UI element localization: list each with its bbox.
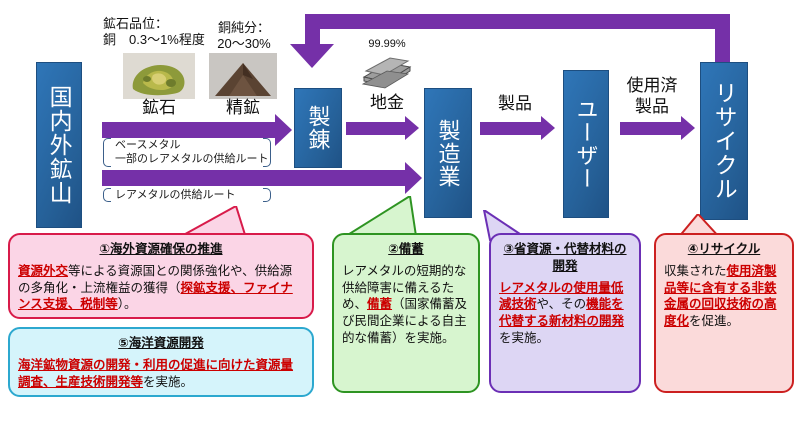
stage-box-mine[interactable]: 国内外鉱山 <box>36 62 82 228</box>
stage-label-mine: 国内外鉱山 <box>47 85 71 205</box>
recycle-loop-top-segment <box>305 14 730 29</box>
used-product-label: 使用済 製品 <box>618 75 686 118</box>
stage-label-manufacture: 製造業 <box>436 119 459 188</box>
bullion-spec-label: 99.99% <box>357 38 417 52</box>
callout-title-resource-saving: ③省資源・代替材料の開発 <box>499 241 631 275</box>
callout-body-stockpiling: レアメタルの短期的な供給障害に備えるため、備蓄（国家備蓄及び民間企業による自主的… <box>342 263 470 347</box>
flow-arrow-bullion-to-manufacture <box>346 122 406 135</box>
callout-ocean-resource-development[interactable]: ⑤海洋資源開発 海洋鉱物資源の開発・利用の促進に向けた資源量調査、生産技術開発等… <box>8 327 314 397</box>
callout-hl-1a: 資源外交 <box>18 264 68 278</box>
ore-spec-label: 鉱石品位： 銅 0.3～1%程度 <box>103 16 215 49</box>
callout-stockpiling[interactable]: ②備蓄 レアメタルの短期的な供給障害に備えるため、備蓄（国家備蓄及び民間企業によ… <box>332 233 480 393</box>
bullion-label: 地金 <box>352 92 422 113</box>
recycle-loop-right-segment <box>715 14 730 64</box>
ore-label: 鉱石 <box>123 97 195 118</box>
callout-title-ocean: ⑤海洋資源開発 <box>18 335 304 352</box>
ore-photo <box>123 53 195 99</box>
diagram-canvas: 国内外鉱山 製錬 製造業 ユーザー リサイクル <box>0 0 800 426</box>
flow-arrow-product-to-user <box>480 122 542 135</box>
callout-title-overseas: ①海外資源確保の推進 <box>18 241 304 258</box>
callout-hl-2b: 備蓄 <box>367 297 392 311</box>
callout-recycling[interactable]: ④リサイクル 収集された使用済製品等に含有する非鉄金属の回収技術の高度化を促進。 <box>654 233 794 393</box>
callout-body-overseas: 資源外交等による資源国との関係強化や、供給源の多角化・上流権益の獲得（探鉱支援、… <box>18 263 304 313</box>
callout-txt-4c: を促進。 <box>689 314 739 328</box>
stage-box-smelting[interactable]: 製錬 <box>294 88 342 168</box>
callout-txt-3d: を実施。 <box>499 331 549 345</box>
recycle-loop-left-segment <box>305 14 320 44</box>
concentrate-spec-label: 銅純分： 20～30% <box>203 20 285 53</box>
stage-label-recycle: リサイクル <box>712 81 736 201</box>
recycle-loop-arrowhead <box>290 44 334 68</box>
bullion-photo <box>358 53 416 93</box>
callout-title-stockpiling: ②備蓄 <box>342 241 470 258</box>
bracket-rare-metal-route: レアメタルの供給ルート <box>101 186 273 204</box>
stage-box-user[interactable]: ユーザー <box>563 70 609 218</box>
callout-txt-1d: ）。 <box>118 297 137 311</box>
bracket-base-metal-route: ベースメタル 一部のレアメタルの供給ルート <box>101 136 273 169</box>
callout-txt-3b: や、その <box>537 297 587 311</box>
callout-title-recycling: ④リサイクル <box>664 241 784 258</box>
stage-box-recycle[interactable]: リサイクル <box>700 62 748 220</box>
product-label: 製品 <box>485 93 545 114</box>
callout-body-recycling: 収集された使用済製品等に含有する非鉄金属の回収技術の高度化を促進。 <box>664 263 784 330</box>
concentrate-photo <box>209 53 277 99</box>
callout-resource-saving-substitute-materials[interactable]: ③省資源・代替材料の開発 レアメタルの使用量低減技術や、その機能を代替する新材料… <box>489 233 641 393</box>
callout-overseas-resource-securing[interactable]: ①海外資源確保の推進 資源外交等による資源国との関係強化や、供給源の多角化・上流… <box>8 233 314 319</box>
flow-arrow-raremetal-to-manufacture <box>102 170 406 186</box>
concentrate-label: 精鉱 <box>209 97 277 118</box>
stage-label-smelting: 製錬 <box>306 105 329 151</box>
stage-label-user: ユーザー <box>574 98 597 190</box>
callout-body-resource-saving: レアメタルの使用量低減技術や、その機能を代替する新材料の開発を実施。 <box>499 280 631 347</box>
callout-txt-5b: を実施。 <box>143 375 193 389</box>
callout-body-ocean: 海洋鉱物資源の開発・利用の促進に向けた資源量調査、生産技術開発等を実施。 <box>18 357 304 391</box>
callout-txt-4a: 収集された <box>664 264 727 278</box>
flow-arrow-usedproduct-to-recycle <box>620 122 682 135</box>
